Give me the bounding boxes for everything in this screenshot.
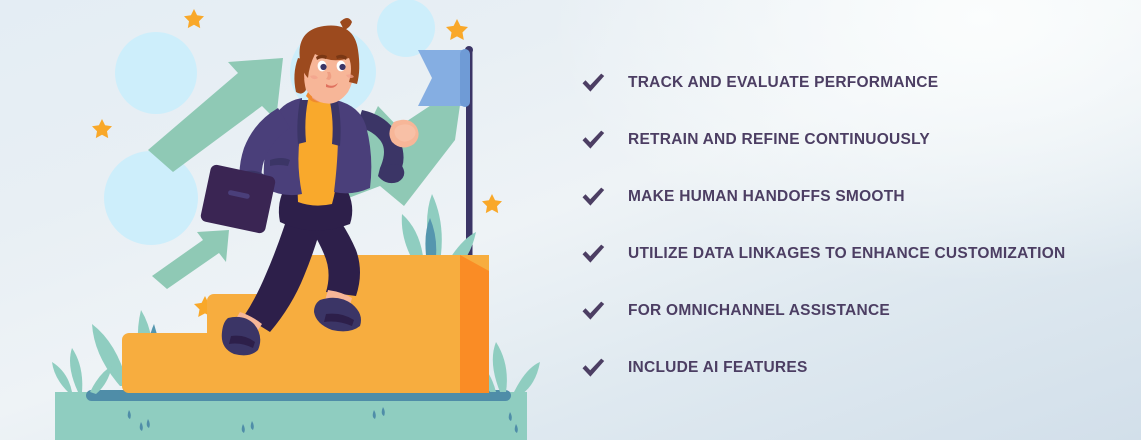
checklist-item[interactable]: RETRAIN AND REFINE CONTINUOUSLY [576, 111, 1121, 168]
checklist-item-label: MAKE HUMAN HANDOFFS SMOOTH [628, 189, 905, 205]
orange-star-left [92, 119, 112, 138]
check-icon [576, 357, 628, 379]
orange-star-near-flag [482, 194, 502, 213]
blue-circle-top-left [115, 32, 197, 114]
orange-star-top [184, 9, 204, 28]
check-icon [576, 129, 628, 151]
checklist-item-label: FOR OMNICHANNEL ASSISTANCE [628, 303, 890, 319]
checklist-item-label: TRACK AND EVALUATE PERFORMANCE [628, 75, 938, 91]
stair-step-3-shadow-side [460, 255, 489, 393]
checklist-item[interactable]: TRACK AND EVALUATE PERFORMANCE [576, 54, 1121, 111]
illustration-businesswoman-climbing-stairs [0, 0, 560, 440]
checklist-banner: TRACK AND EVALUATE PERFORMANCE RETRAIN A… [0, 0, 1141, 440]
pupil-left [320, 64, 326, 70]
pupil-right [339, 64, 345, 70]
flag-banner-sleeve [460, 49, 470, 107]
jacket-pocket-left [270, 158, 290, 166]
check-icon [576, 72, 628, 94]
checklist-item[interactable]: FOR OMNICHANNEL ASSISTANCE [576, 282, 1121, 339]
check-icon [576, 186, 628, 208]
checklist-item[interactable]: UTILIZE DATA LINKAGES TO ENHANCE CUSTOMI… [576, 225, 1121, 282]
checklist-item-label: INCLUDE AI FEATURES [628, 360, 808, 376]
benefits-checklist: TRACK AND EVALUATE PERFORMANCE RETRAIN A… [576, 54, 1121, 396]
checklist-item[interactable]: INCLUDE AI FEATURES [576, 339, 1121, 396]
checklist-item-label: RETRAIN AND REFINE CONTINUOUSLY [628, 132, 930, 148]
check-icon [576, 300, 628, 322]
blue-circle-top-right [377, 0, 435, 57]
checklist-item-label: UTILIZE DATA LINKAGES TO ENHANCE CUSTOMI… [628, 246, 1065, 262]
checklist-item[interactable]: MAKE HUMAN HANDOFFS SMOOTH [576, 168, 1121, 225]
orange-star-upper-right [446, 19, 468, 40]
check-icon [576, 243, 628, 265]
flag-banner [418, 50, 466, 106]
